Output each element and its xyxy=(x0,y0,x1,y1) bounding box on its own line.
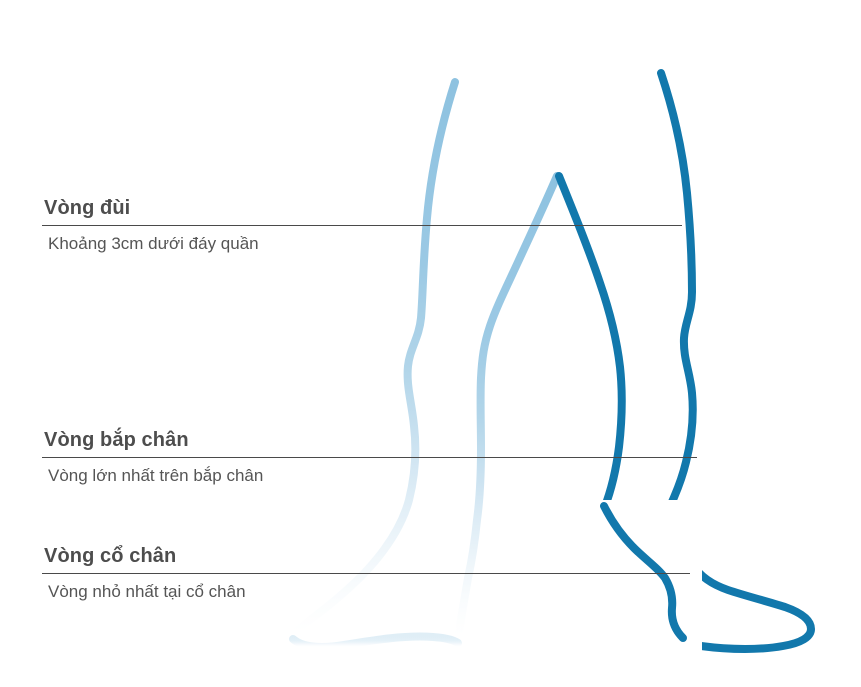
measurement-ankle-description: Vòng nhỏ nhất tại cổ chân xyxy=(48,582,246,602)
measurement-thigh-description: Khoảng 3cm dưới đáy quần xyxy=(48,234,259,254)
measurement-calf-title: Vòng bắp chân xyxy=(44,429,189,452)
measurement-calf-rule xyxy=(42,457,697,458)
measurement-thigh-title: Vòng đùi xyxy=(44,197,130,220)
measurement-ankle-rule xyxy=(42,573,690,574)
measurement-thigh-rule xyxy=(42,225,682,226)
diagram-canvas: Vòng đùi Khoảng 3cm dưới đáy quần Vòng b… xyxy=(0,0,861,687)
measurement-ankle-title: Vòng cổ chân xyxy=(44,545,176,568)
measurement-calf-description: Vòng lớn nhất trên bắp chân xyxy=(48,466,263,486)
